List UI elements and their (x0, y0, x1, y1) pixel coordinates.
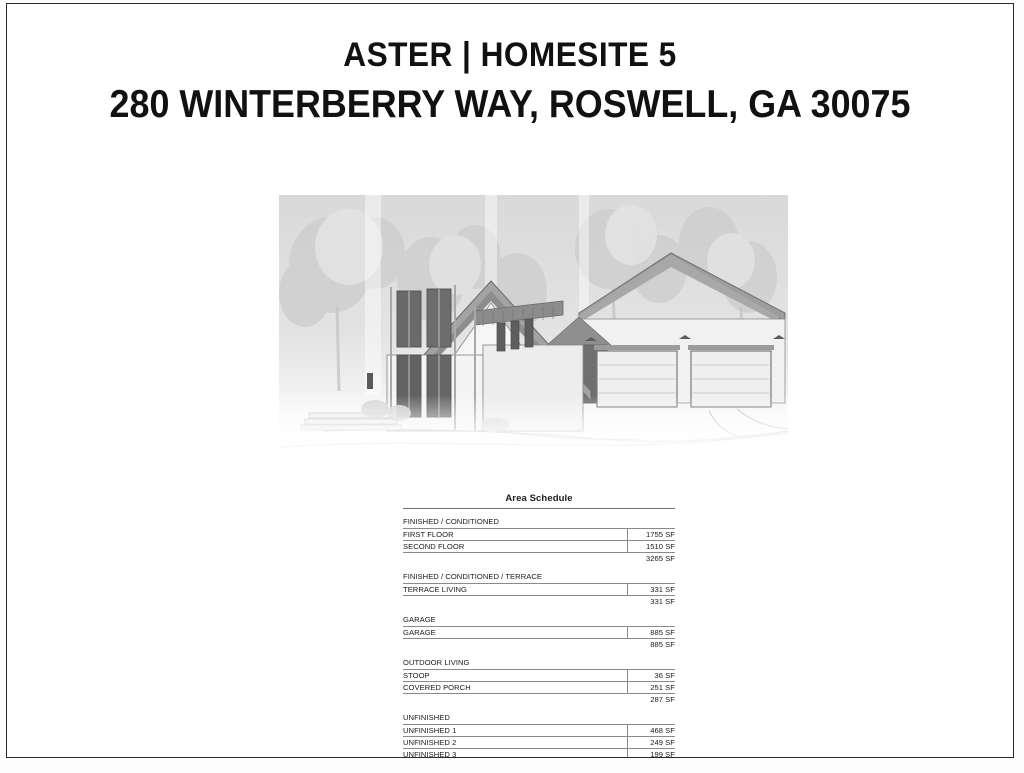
table-row: STOOP 36 SF (403, 670, 675, 682)
area-schedule-header-rule (403, 508, 675, 509)
row-value: 468 SF (627, 725, 675, 737)
row-value: 249 SF (627, 737, 675, 749)
group-label: FINISHED / CONDITIONED (403, 516, 627, 529)
group-value-blank (627, 571, 675, 584)
group-label: FINISHED / CONDITIONED / TERRACE (403, 571, 627, 584)
table-subtotal-row: 287 SF (403, 694, 675, 706)
subtotal-label-blank (403, 639, 627, 651)
row-value: 36 SF (627, 670, 675, 682)
row-label: UNFINISHED 1 (403, 725, 627, 737)
row-label: STOOP (403, 670, 627, 682)
page-sheet: ASTER | HOMESITE 5 280 WINTERBERRY WAY, … (6, 3, 1014, 758)
table-group-header: FINISHED / CONDITIONED / TERRACE (403, 571, 675, 584)
subtotal-value: 3265 SF (627, 553, 675, 565)
group-label: GARAGE (403, 614, 627, 627)
table-spacer (403, 564, 675, 571)
table-row: GARAGE 885 SF (403, 627, 675, 639)
subtotal-label-blank (403, 553, 627, 565)
subtotal-label-blank (403, 694, 627, 706)
group-value-blank (627, 657, 675, 670)
row-label: TERRACE LIVING (403, 584, 627, 596)
page-title: ASTER | HOMESITE 5 280 WINTERBERRY WAY, … (7, 36, 1013, 128)
table-row: UNFINISHED 2 249 SF (403, 737, 675, 749)
row-value: 331 SF (627, 584, 675, 596)
row-label: UNFINISHED 3 (403, 749, 627, 759)
architectural-rendering-image (279, 195, 788, 457)
row-value: 251 SF (627, 682, 675, 694)
table-subtotal-row: 885 SF (403, 639, 675, 651)
subtotal-value: 287 SF (627, 694, 675, 706)
row-label: COVERED PORCH (403, 682, 627, 694)
table-row: UNFINISHED 1 468 SF (403, 725, 675, 737)
table-spacer (403, 650, 675, 657)
row-value: 199 SF (627, 749, 675, 759)
row-label: SECOND FLOOR (403, 541, 627, 553)
table-row: FIRST FLOOR 1755 SF (403, 529, 675, 541)
row-value: 1755 SF (627, 529, 675, 541)
table-group-header: UNFINISHED (403, 712, 675, 725)
row-label: UNFINISHED 2 (403, 737, 627, 749)
table-row: TERRACE LIVING 331 SF (403, 584, 675, 596)
table-row: UNFINISHED 3 199 SF (403, 749, 675, 759)
table-group-header: OUTDOOR LIVING (403, 657, 675, 670)
title-line-project: ASTER | HOMESITE 5 (42, 36, 978, 75)
group-value-blank (627, 712, 675, 725)
group-label: UNFINISHED (403, 712, 627, 725)
subtotal-value: 331 SF (627, 596, 675, 608)
table-group-header: GARAGE (403, 614, 675, 627)
title-line-address: 280 WINTERBERRY WAY, ROSWELL, GA 30075 (47, 83, 973, 128)
area-schedule-table: FINISHED / CONDITIONED FIRST FLOOR 1755 … (403, 516, 675, 758)
subtotal-label-blank (403, 596, 627, 608)
area-schedule: Area Schedule FINISHED / CONDITIONED FIR… (403, 493, 675, 758)
table-group-header: FINISHED / CONDITIONED (403, 516, 675, 529)
row-label: GARAGE (403, 627, 627, 639)
group-value-blank (627, 614, 675, 627)
table-row: SECOND FLOOR 1510 SF (403, 541, 675, 553)
table-subtotal-row: 3265 SF (403, 553, 675, 565)
row-label: FIRST FLOOR (403, 529, 627, 541)
table-row: COVERED PORCH 251 SF (403, 682, 675, 694)
row-value: 885 SF (627, 627, 675, 639)
table-subtotal-row: 331 SF (403, 596, 675, 608)
subtotal-value: 885 SF (627, 639, 675, 651)
group-value-blank (627, 516, 675, 529)
table-spacer (403, 607, 675, 614)
table-spacer (403, 705, 675, 712)
group-label: OUTDOOR LIVING (403, 657, 627, 670)
area-schedule-title: Area Schedule (403, 493, 675, 508)
row-value: 1510 SF (627, 541, 675, 553)
